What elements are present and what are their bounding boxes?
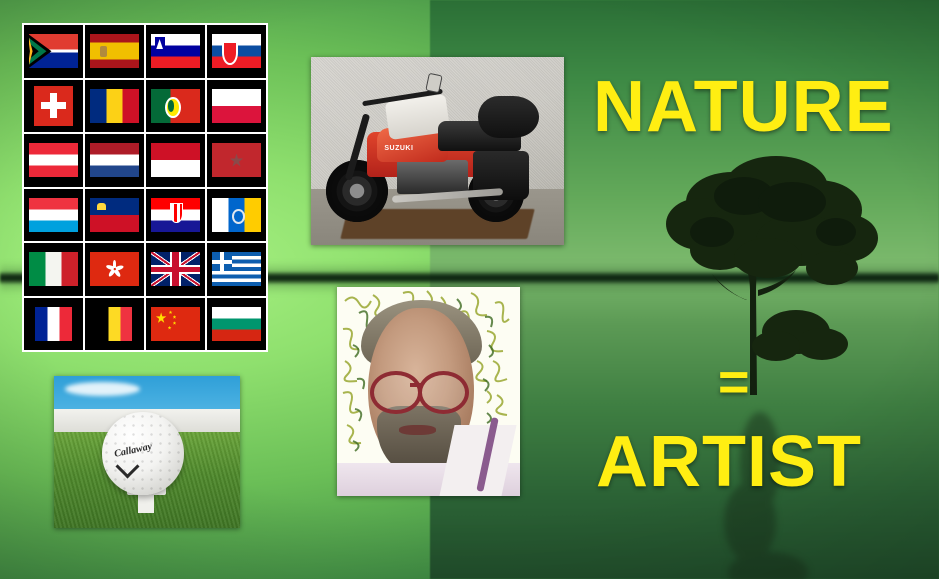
italy-icon xyxy=(29,252,79,286)
portrait-mouth xyxy=(399,425,436,435)
motorcycle-brand-text: SUZUKI xyxy=(384,145,413,152)
world-flags-collage xyxy=(22,23,268,352)
flag-cell-hong-kong xyxy=(85,243,144,296)
south-africa-icon xyxy=(29,34,79,68)
france-icon xyxy=(35,307,72,341)
flag-cell-liechtenstein xyxy=(85,189,144,242)
austria-icon xyxy=(29,143,79,177)
flag-cell-luxembourg xyxy=(24,189,83,242)
flag-cell-switzerland xyxy=(24,80,83,133)
flag-cell-united-kingdom xyxy=(146,243,205,296)
flag-cell-greece xyxy=(207,243,266,296)
luxembourg-icon xyxy=(29,198,79,232)
flag-cell-portugal xyxy=(146,80,205,133)
croatia-icon xyxy=(151,198,201,232)
hong-kong-icon xyxy=(90,252,140,286)
golf-ball: Callaway xyxy=(102,412,184,494)
portugal-icon xyxy=(151,89,201,123)
spain-icon xyxy=(90,34,140,68)
flag-cell-bulgaria xyxy=(207,298,266,351)
monaco-icon xyxy=(151,143,201,177)
flag-cell-italy xyxy=(24,243,83,296)
flag-cell-morocco xyxy=(207,134,266,187)
canary-islands-icon xyxy=(212,198,262,232)
flag-cell-monaco xyxy=(146,134,205,187)
flag-cell-slovakia xyxy=(207,25,266,78)
morocco-icon xyxy=(212,143,262,177)
poland-icon xyxy=(212,89,262,123)
greece-icon xyxy=(212,252,262,286)
liechtenstein-icon xyxy=(90,198,140,232)
motorcycle-engine xyxy=(397,160,468,194)
poster-canvas: SUZUKI xyxy=(0,0,939,579)
flag-cell-spain xyxy=(85,25,144,78)
flag-cell-france xyxy=(24,298,83,351)
portrait-glasses-bridge xyxy=(410,383,421,387)
flag-cell-china xyxy=(146,298,205,351)
flag-cell-romania xyxy=(85,80,144,133)
portrait-glasses-left-lens xyxy=(370,371,422,415)
motorcycle-photo: SUZUKI xyxy=(311,57,564,245)
golf-ball-photo: Callaway xyxy=(54,376,240,528)
united-kingdom-icon xyxy=(151,252,201,286)
flag-cell-belgium xyxy=(85,298,144,351)
flag-cell-croatia xyxy=(146,189,205,242)
china-icon xyxy=(151,307,201,341)
golf-cloud xyxy=(65,382,139,396)
switzerland-icon xyxy=(34,86,73,126)
flag-cell-south-africa xyxy=(24,25,83,78)
portrait-glasses-right-lens xyxy=(418,371,470,415)
bulgaria-icon xyxy=(212,307,262,341)
flag-cell-canary-islands xyxy=(207,189,266,242)
equals-symbol: = xyxy=(718,355,751,409)
netherlands-icon xyxy=(90,143,140,177)
flag-cell-austria xyxy=(24,134,83,187)
slovakia-icon xyxy=(212,34,262,68)
romania-icon xyxy=(90,89,140,123)
flag-cell-poland xyxy=(207,80,266,133)
belgium-icon xyxy=(97,307,131,341)
slovenia-icon xyxy=(151,34,201,68)
flag-cell-netherlands xyxy=(85,134,144,187)
headline-artist: ARTIST xyxy=(596,426,862,498)
portrait-sketch xyxy=(337,287,520,496)
motorcycle-luggage-roll xyxy=(478,96,539,137)
flag-cell-slovenia xyxy=(146,25,205,78)
headline-nature: NATURE xyxy=(593,71,894,143)
